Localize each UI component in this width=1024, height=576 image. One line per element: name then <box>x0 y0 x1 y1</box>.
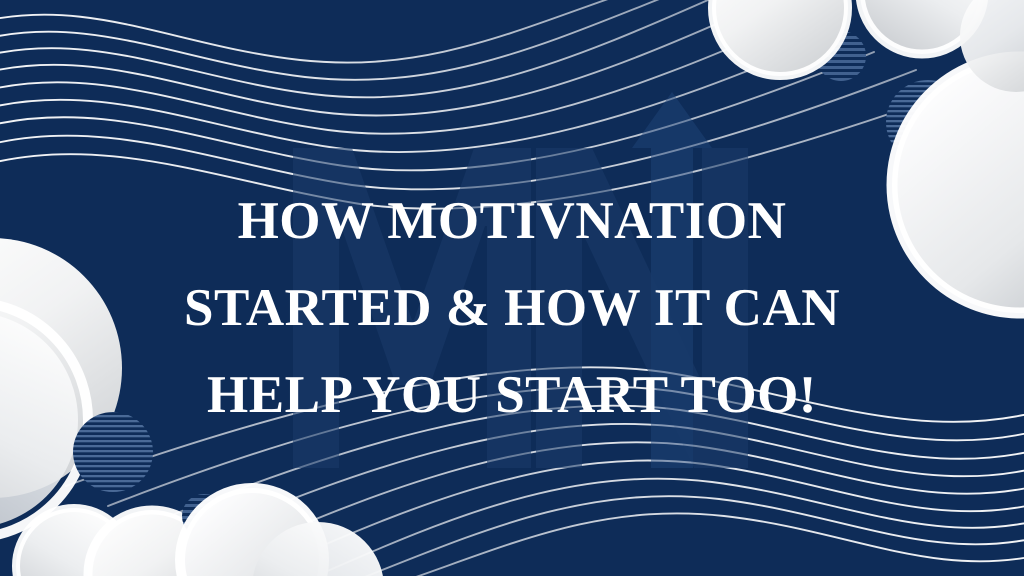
crescent-top-right-1 <box>712 0 848 76</box>
sphere-top-right-1 <box>712 0 848 76</box>
striped-circle-bottom-center <box>182 494 226 538</box>
title-layer: HOW MOTIVNATION STARTED & HOW IT CAN HEL… <box>0 0 1024 576</box>
slide-title: HOW MOTIVNATION STARTED & HOW IT CAN HEL… <box>0 178 1024 439</box>
slide-canvas: HOW MOTIVNATION STARTED & HOW IT CAN HEL… <box>0 0 1024 576</box>
sphere-bottom-center-2 <box>180 488 324 576</box>
sphere-right-small <box>960 0 1024 92</box>
striped-circle-top-right <box>816 31 866 81</box>
title-line-1: HOW MOTIVNATION <box>0 178 1024 265</box>
title-line-2: STARTED & HOW IT CAN <box>0 265 1024 352</box>
sphere-bottom-center-1 <box>88 510 216 576</box>
title-line-3: HELP YOU START TOO! <box>0 352 1024 439</box>
sphere-top-right-2 <box>860 0 984 54</box>
sphere-bottom-center-3 <box>252 522 384 576</box>
striped-circle-right <box>886 80 970 164</box>
sphere-bottom-left-1 <box>16 508 132 576</box>
